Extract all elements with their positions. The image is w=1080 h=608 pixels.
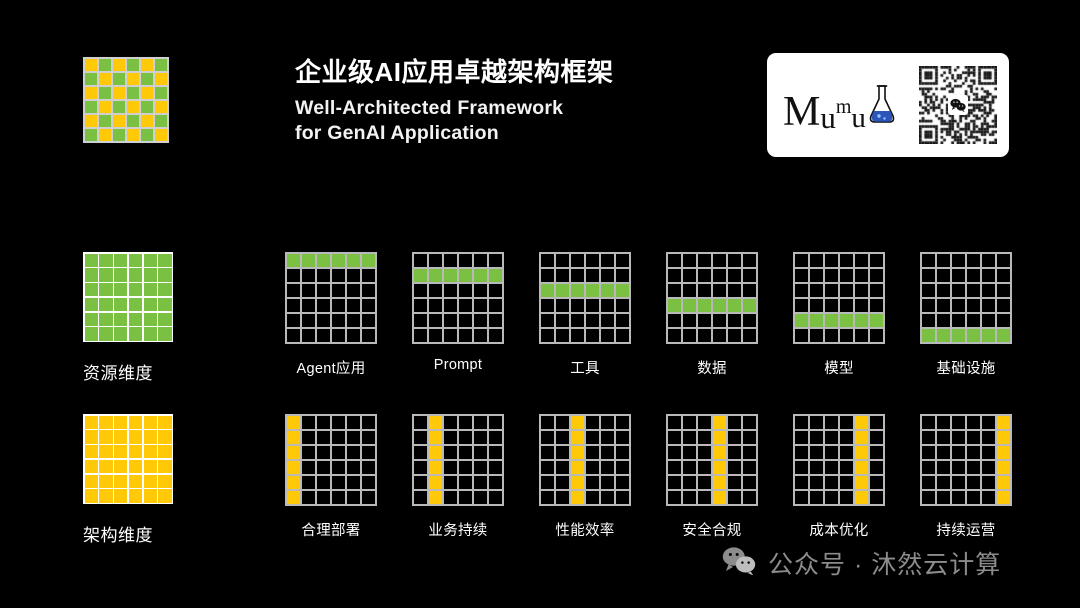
grid-cell [414,416,428,430]
grid-cell [85,460,98,473]
grid-cell [302,284,316,298]
grid-cell [601,284,615,298]
grid-cell [825,269,839,283]
grid-cell [332,431,346,445]
qr-code[interactable] [919,66,997,144]
grid-cell [743,284,757,298]
grid-cell [99,268,112,281]
grid-cell [459,431,473,445]
grid-cell [825,284,839,298]
grid-cell [287,431,301,445]
grid-cell [728,461,742,475]
grid-cell [982,284,996,298]
grid-cell [99,430,112,443]
logo-cell [155,129,167,141]
grid-cell [728,254,742,268]
resource-item[interactable]: Prompt [412,252,504,378]
grid-cell [586,314,600,328]
grid-cell [997,269,1011,283]
grid-cell [99,445,112,458]
grid-cell [302,491,316,505]
grid-cell [158,313,171,326]
grid-cell [362,314,376,328]
watermark: 公众号 · 沐然云计算 [722,545,1001,581]
grid-cell [429,329,443,343]
grid-cell [362,329,376,343]
grid-cell [683,416,697,430]
grid-cell [840,446,854,460]
grid-cell [114,327,127,340]
grid-cell [571,254,585,268]
grid-cell [982,269,996,283]
grid-cell [810,446,824,460]
grid-cell [870,314,884,328]
grid-cell [317,299,331,313]
grid-cell [99,298,112,311]
grid-cell [114,283,127,296]
logo-cell [155,87,167,99]
grid-cell [158,254,171,267]
grid-cell [586,491,600,505]
grid-cell [937,329,951,343]
grid-cell [489,446,503,460]
grid-cell [459,314,473,328]
grid-cell [489,431,503,445]
grid-cell [158,416,171,429]
resource-item[interactable]: Agent应用 [285,252,377,378]
grid-cell [158,298,171,311]
grid-cell [556,431,570,445]
grid-cell [810,491,824,505]
grid-cell [362,284,376,298]
grid-cell [444,299,458,313]
grid-cell [825,446,839,460]
grid-cell [997,476,1011,490]
grid-cell [952,476,966,490]
grid-cell [571,284,585,298]
grid-cell [997,416,1011,430]
grid-cell [825,254,839,268]
grid-cell [85,489,98,502]
grid-cell [129,313,142,326]
grid-cell [347,491,361,505]
grid-cell [840,254,854,268]
grid-cell [952,416,966,430]
grid-cell [922,314,936,328]
grid-cell [616,299,630,313]
grid-cell [158,327,171,340]
grid-cell [698,431,712,445]
grid-cell [795,269,809,283]
grid-cell [683,254,697,268]
grid-cell [728,416,742,430]
grid-cell [601,329,615,343]
architecture-item-list: 合理部署业务持续性能效率安全合规成本优化持续运营 [285,414,1012,540]
page-title-en-line1: Well-Architected Framework [295,96,755,122]
grid-cell [601,299,615,313]
grid-cell [317,446,331,460]
grid-cell [429,461,443,475]
grid-cell [982,431,996,445]
grid-cell [556,446,570,460]
grid-cell [586,416,600,430]
grid-cell [616,269,630,283]
resource-label: Agent应用 [285,357,377,378]
grid-cell [698,254,712,268]
grid-cell [601,431,615,445]
logo-cell [113,87,125,99]
grid-cell [571,299,585,313]
grid-cell [855,254,869,268]
grid-cell [129,327,142,340]
grid-cell [855,269,869,283]
grid-cell [444,431,458,445]
architecture-item[interactable]: 成本优化 [793,414,885,540]
grid-cell [743,476,757,490]
grid-cell [967,431,981,445]
grid-cell [825,431,839,445]
grid-cell [743,314,757,328]
grid-cell [795,476,809,490]
grid-cell [541,299,555,313]
grid-cell [997,299,1011,313]
architecture-item[interactable]: 合理部署 [285,414,377,540]
grid-cell [541,254,555,268]
grid-cell [728,284,742,298]
grid-cell [414,329,428,343]
grid-cell [362,476,376,490]
grid-cell [952,284,966,298]
grid-cell [414,491,428,505]
grid-cell [870,431,884,445]
grid-cell [144,430,157,443]
grid-cell [429,431,443,445]
grid-cell [362,461,376,475]
grid-cell [414,476,428,490]
grid-cell [414,431,428,445]
grid-cell [795,254,809,268]
grid-cell [444,476,458,490]
grid-cell [444,284,458,298]
architecture-item[interactable]: 业务持续 [412,414,504,540]
grid-cell [362,491,376,505]
grid-cell [144,254,157,267]
grid-cell [474,254,488,268]
grid-cell [982,461,996,475]
resource-item[interactable]: 数据 [666,252,758,378]
grid-cell [713,299,727,313]
dimension-grid-resource [83,252,173,342]
grid-cell [541,446,555,460]
architecture-label: 成本优化 [793,519,885,540]
grid-cell [698,461,712,475]
grid-cell [444,254,458,268]
grid-cell [855,446,869,460]
grid-cell [317,284,331,298]
grid-cell [743,431,757,445]
grid-cell [144,489,157,502]
watermark-label: 公众号 · 沐然云计算 [768,545,1001,581]
resource-grid [920,252,1012,344]
grid-cell [302,299,316,313]
grid-cell [795,491,809,505]
grid-cell [302,254,316,268]
logo-cell [85,59,97,71]
architecture-grid [793,414,885,506]
grid-cell [698,269,712,283]
logo-cell [141,115,153,127]
logo-cell [141,101,153,113]
architecture-item[interactable]: 性能效率 [539,414,631,540]
grid-cell [795,329,809,343]
grid-cell [922,446,936,460]
grid-cell [332,446,346,460]
grid-cell [825,476,839,490]
grid-cell [743,416,757,430]
grid-cell [474,416,488,430]
grid-cell [825,491,839,505]
grid-cell [840,284,854,298]
grid-cell [668,299,682,313]
grid-cell [922,416,936,430]
grid-cell [952,446,966,460]
grid-cell [967,416,981,430]
grid-cell [937,431,951,445]
resource-item[interactable]: 模型 [793,252,885,378]
grid-cell [997,431,1011,445]
grid-cell [870,476,884,490]
grid-cell [302,476,316,490]
grid-cell [444,329,458,343]
grid-cell [840,461,854,475]
grid-cell [414,461,428,475]
grid-cell [810,461,824,475]
grid-cell [870,269,884,283]
grid-cell [362,254,376,268]
grid-cell [474,284,488,298]
grid-cell [810,269,824,283]
grid-cell [302,314,316,328]
grid-cell [541,314,555,328]
grid-cell [287,446,301,460]
grid-cell [967,284,981,298]
architecture-item[interactable]: 安全合规 [666,414,758,540]
grid-cell [601,254,615,268]
logo-cell [113,73,125,85]
grid-cell [556,416,570,430]
grid-cell [144,475,157,488]
grid-cell [982,491,996,505]
grid-cell [728,431,742,445]
grid-cell [347,254,361,268]
grid-cell [158,445,171,458]
grid-cell [114,268,127,281]
grid-cell [937,461,951,475]
grid-cell [85,283,98,296]
grid-cell [728,269,742,283]
grid-cell [967,491,981,505]
grid-cell [429,476,443,490]
grid-cell [317,461,331,475]
grid-cell [158,460,171,473]
grid-cell [114,313,127,326]
grid-cell [937,314,951,328]
grid-cell [982,416,996,430]
grid-cell [317,431,331,445]
grid-cell [317,491,331,505]
grid-cell [855,431,869,445]
grid-cell [668,491,682,505]
grid-cell [347,476,361,490]
logo-cell [127,129,139,141]
grid-cell [616,314,630,328]
grid-cell [713,314,727,328]
grid-cell [474,299,488,313]
grid-cell [922,329,936,343]
grid-cell [444,416,458,430]
grid-cell [99,475,112,488]
grid-cell [713,431,727,445]
grid-cell [541,284,555,298]
grid-cell [571,476,585,490]
grid-cell [541,329,555,343]
grid-cell [997,254,1011,268]
grid-cell [728,446,742,460]
grid-cell [347,461,361,475]
checkerboard-logo [83,57,169,143]
grid-cell [997,329,1011,343]
grid-cell [571,491,585,505]
wordmark-letter-sup: m [836,97,852,117]
grid-cell [997,491,1011,505]
resource-grid [666,252,758,344]
grid-cell [870,284,884,298]
grid-cell [347,314,361,328]
grid-cell [855,461,869,475]
grid-cell [601,416,615,430]
grid-cell [489,299,503,313]
resource-item[interactable]: 基础设施 [920,252,1012,378]
architecture-grid [285,414,377,506]
grid-cell [114,416,127,429]
grid-cell [870,329,884,343]
grid-cell [586,431,600,445]
grid-cell [922,299,936,313]
grid-cell [683,284,697,298]
grid-cell [952,461,966,475]
grid-cell [489,314,503,328]
resource-label: Prompt [412,357,504,373]
grid-cell [855,284,869,298]
resource-grid [539,252,631,344]
wechat-icon [948,95,968,115]
grid-cell [302,446,316,460]
grid-cell [556,476,570,490]
logo-cell [155,101,167,113]
grid-cell [743,329,757,343]
grid-cell [114,475,127,488]
grid-cell [287,329,301,343]
grid-cell [287,491,301,505]
grid-cell [728,329,742,343]
grid-cell [85,430,98,443]
grid-cell [586,299,600,313]
grid-cell [683,269,697,283]
grid-cell [332,314,346,328]
grid-cell [683,431,697,445]
grid-cell [347,416,361,430]
wordmark-letter-u2: u [851,104,866,133]
grid-cell [302,461,316,475]
grid-cell [302,431,316,445]
grid-cell [616,491,630,505]
grid-cell [114,254,127,267]
grid-cell [99,460,112,473]
grid-cell [982,329,996,343]
grid-cell [922,431,936,445]
architecture-label: 持续运营 [920,519,1012,540]
grid-cell [967,314,981,328]
grid-cell [586,476,600,490]
resource-label: 数据 [666,357,758,378]
grid-cell [129,268,142,281]
grid-cell [952,431,966,445]
grid-cell [287,476,301,490]
grid-cell [541,431,555,445]
grid-cell [129,254,142,267]
grid-cell [810,254,824,268]
grid-cell [698,416,712,430]
grid-cell [459,299,473,313]
grid-cell [683,491,697,505]
logo-cell [85,87,97,99]
architecture-grid [666,414,758,506]
grid-cell [982,299,996,313]
architecture-item[interactable]: 持续运营 [920,414,1012,540]
grid-cell [571,431,585,445]
grid-cell [743,491,757,505]
grid-cell [414,254,428,268]
grid-cell [414,299,428,313]
grid-cell [332,254,346,268]
grid-cell [144,283,157,296]
grid-cell [429,446,443,460]
grid-cell [489,416,503,430]
grid-cell [571,416,585,430]
grid-cell [698,314,712,328]
grid-cell [85,268,98,281]
grid-cell [586,284,600,298]
grid-cell [541,491,555,505]
grid-cell [332,284,346,298]
resource-item[interactable]: 工具 [539,252,631,378]
dimension-label-resource: 资源维度 [83,359,173,384]
grid-cell [429,314,443,328]
grid-cell [347,431,361,445]
grid-cell [99,489,112,502]
logo-cell [99,115,111,127]
title-block: 企业级AI应用卓越架构框架 Well-Architected Framework… [295,56,755,147]
grid-cell [144,460,157,473]
grid-cell [332,329,346,343]
grid-cell [825,299,839,313]
grid-cell [362,269,376,283]
logo-cell [99,101,111,113]
grid-cell [967,476,981,490]
logo-cell [127,87,139,99]
grid-cell [332,299,346,313]
grid-cell [129,445,142,458]
